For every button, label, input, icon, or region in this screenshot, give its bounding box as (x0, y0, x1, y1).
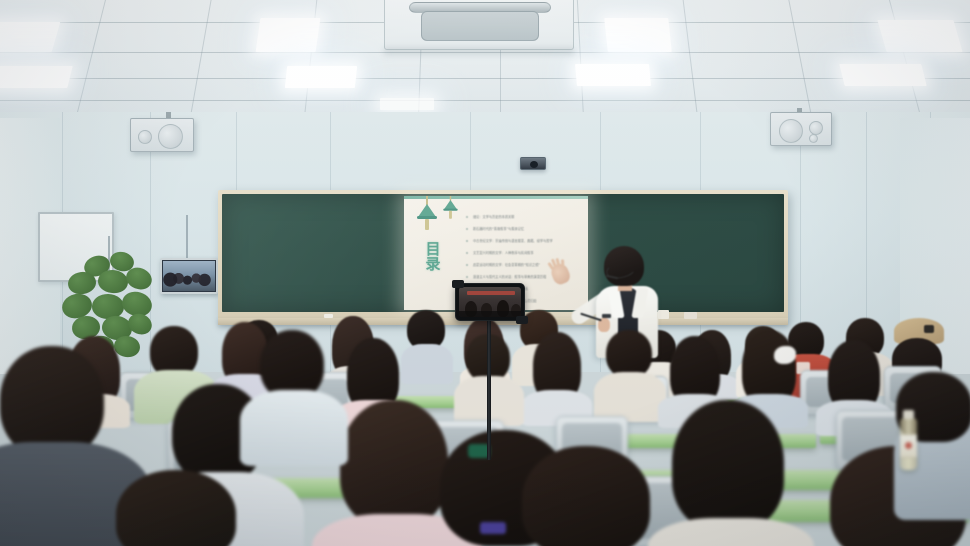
student (508, 446, 668, 546)
student (104, 470, 254, 546)
student (660, 400, 800, 546)
lanyard (480, 522, 506, 534)
bottle-label (900, 434, 917, 458)
tripod-pole[interactable] (487, 310, 491, 460)
bottle-cap (903, 410, 914, 419)
recording-phone[interactable] (455, 283, 525, 321)
phone-screen[interactable] (459, 287, 521, 317)
student (250, 330, 336, 450)
classroom-photo: 目 录 绪论：文学与历史的本质关联 新石器时代的“英雄叙事”与集体记忆 中古世纪… (0, 0, 970, 546)
drink-bottle (900, 418, 917, 470)
